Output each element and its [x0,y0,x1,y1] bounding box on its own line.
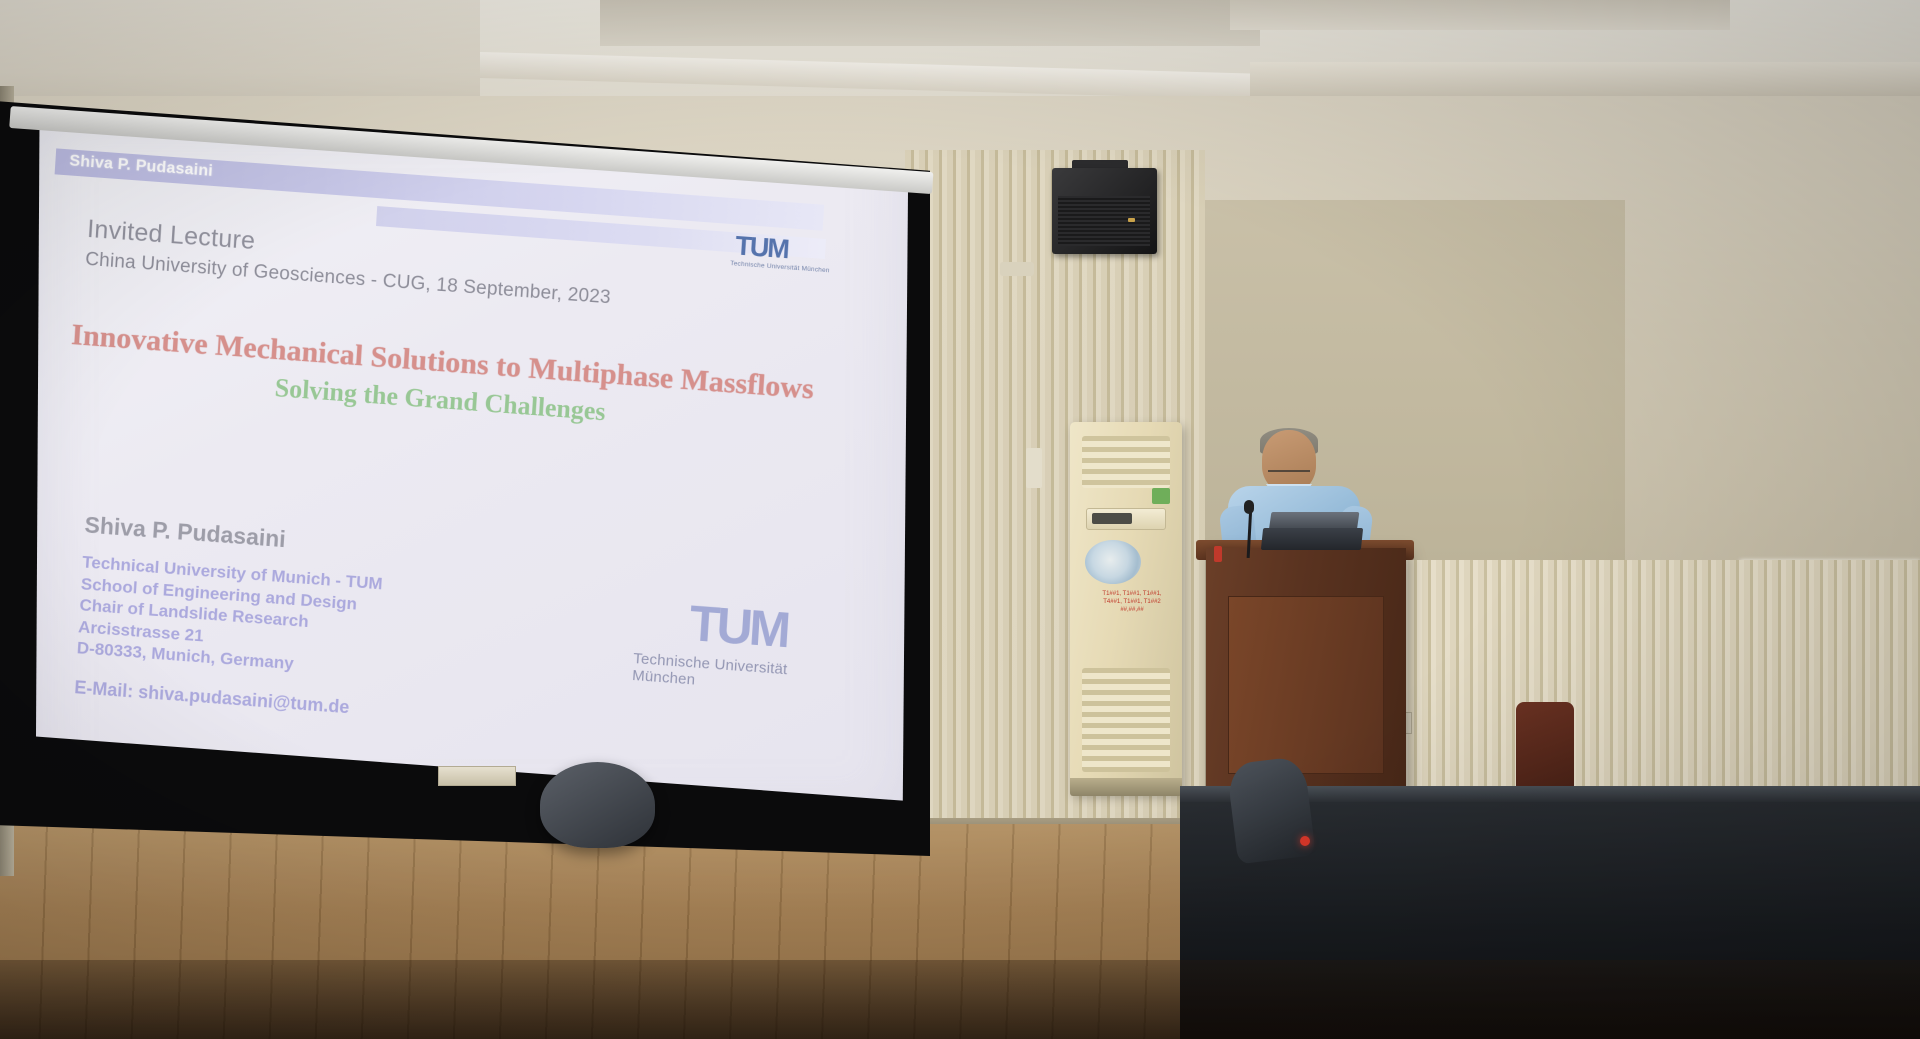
laptop-base[interactable] [1261,528,1363,550]
presenter-head [1262,430,1316,492]
ac-base [1070,778,1182,796]
slide-affiliation-block: Technical University of Munich - TUM Sch… [76,551,383,680]
glasses-icon [1268,470,1310,478]
microphone-icon [1244,500,1254,514]
red-indicator-icon [1300,836,1310,846]
slat-wall-panel-right [1380,560,1920,810]
red-marker-object [1214,546,1222,562]
slide-author: Shiva P. Pudasaini [84,511,287,553]
presentation-slide: Shiva P. Pudasaini TUM Technische Univer… [14,120,860,778]
ceiling-recess-secondary [1230,0,1730,30]
ceiling-edge [1250,62,1920,96]
tum-logo-large-caption: Technische Universität München [632,650,830,698]
ceiling-recess [600,0,1260,46]
wall-access-panel [438,766,516,786]
ac-brand-swirl-icon [1085,540,1141,584]
ac-bottom-vents [1082,668,1170,772]
podium-front-panel [1228,596,1384,774]
lecture-hall-scene: Shiva P. Pudasaini TUM Technische Univer… [0,0,1920,1039]
slide-email: E-Mail: shiva.pudasaini@tum.de [74,677,350,718]
ac-indicator-icon [1152,488,1170,504]
tum-logo-small: TUM [735,232,789,263]
tum-logo-large: TUM [688,598,789,655]
speaker-grille [1058,196,1150,246]
ac-label-text: T1##1, T1##1, T1##1, T4##1, T1##1, T1##2… [1096,590,1168,624]
slide-header-name: Shiva P. Pudasaini [69,152,214,180]
foreground-floor-shadow [0,960,1920,1039]
ac-top-vents [1082,436,1170,488]
foreground-chair [540,762,655,848]
wall-switch[interactable] [1026,448,1042,488]
slide-venue-line: China University of Geosciences - CUG, 1… [85,249,612,310]
speaker-led-icon [1128,218,1135,222]
wall-sensor [1000,262,1034,276]
ac-display [1092,513,1132,524]
